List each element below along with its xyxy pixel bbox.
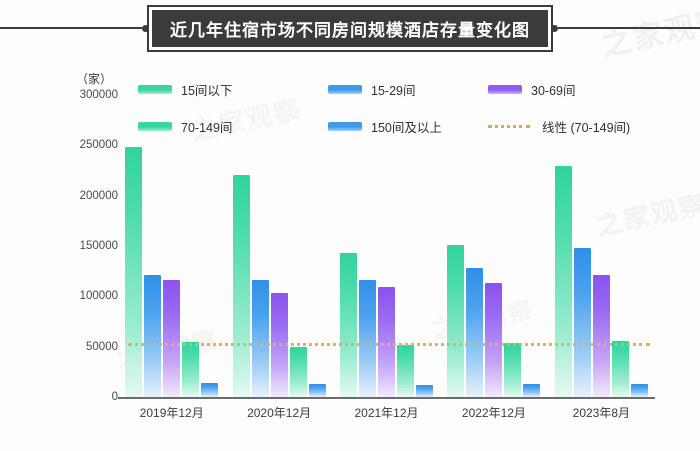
legend-color-swatch-icon xyxy=(138,122,172,131)
bar-group xyxy=(118,147,225,397)
bar-0-0[interactable] xyxy=(125,147,142,397)
x-axis-tick-label: 2019年12月 xyxy=(118,404,225,421)
bar-0-1[interactable] xyxy=(233,175,250,397)
legend-item-1[interactable]: 15-29间 xyxy=(328,80,488,99)
legend-color-swatch-icon xyxy=(488,85,522,94)
y-axis-tick-label: 150000 xyxy=(80,240,118,252)
bar-groups xyxy=(118,147,655,397)
legend-color-swatch-icon xyxy=(328,85,362,94)
legend-label: 150间及以上 xyxy=(371,117,442,136)
bar-3-4[interactable] xyxy=(612,341,629,397)
y-axis-unit-label: （家） xyxy=(76,70,112,87)
bar-2-4[interactable] xyxy=(593,275,610,397)
bar-2-3[interactable] xyxy=(485,283,502,397)
bar-1-0[interactable] xyxy=(144,275,161,397)
legend-label: 30-69间 xyxy=(531,80,575,99)
bar-3-3[interactable] xyxy=(504,343,521,397)
bar-1-1[interactable] xyxy=(252,280,269,397)
y-axis-tick-label: 250000 xyxy=(80,139,118,151)
bar-1-4[interactable] xyxy=(574,248,591,397)
title-bar: 近几年住宿市场不同房间规模酒店存量变化图 xyxy=(0,10,700,46)
x-axis-line xyxy=(118,397,655,399)
bar-0-4[interactable] xyxy=(555,166,572,397)
bar-2-2[interactable] xyxy=(378,287,395,397)
chart-plot-area: 300000250000200000150000100000500000 201… xyxy=(0,0,700,451)
x-axis-labels: 2019年12月2020年12月2021年12月2022年12月2023年8月 xyxy=(118,404,655,421)
legend-item-2[interactable]: 30-69间 xyxy=(488,80,648,99)
bar-4-3[interactable] xyxy=(523,384,540,398)
x-axis-tick-label: 2020年12月 xyxy=(225,404,332,421)
bar-3-1[interactable] xyxy=(290,347,307,397)
bar-3-0[interactable] xyxy=(182,342,199,397)
bar-group xyxy=(333,147,440,397)
watermark: 之家观察 xyxy=(592,184,700,243)
y-axis-tick-label: 300000 xyxy=(80,89,118,101)
watermark: 之家观察 xyxy=(427,290,536,346)
bar-4-4[interactable] xyxy=(631,384,648,397)
bar-4-2[interactable] xyxy=(416,385,433,397)
legend-color-swatch-icon xyxy=(328,122,362,131)
bar-group xyxy=(548,147,655,397)
bar-0-2[interactable] xyxy=(340,253,357,397)
legend-label: 15间以下 xyxy=(181,80,232,99)
y-axis-tick-label: 200000 xyxy=(80,190,118,202)
title-rule-right xyxy=(558,27,700,29)
x-axis-tick-label: 2022年12月 xyxy=(440,404,547,421)
bar-3-2[interactable] xyxy=(397,345,414,397)
bar-group xyxy=(440,147,547,397)
legend-label: 70-149间 xyxy=(181,117,232,136)
y-axis-tick-label: 100000 xyxy=(80,290,118,302)
bar-4-0[interactable] xyxy=(201,383,218,397)
title-dot-right xyxy=(551,25,558,32)
legend-color-swatch-icon xyxy=(138,85,172,94)
x-axis-tick-label: 2021年12月 xyxy=(333,404,440,421)
watermark: 之家观察 xyxy=(112,320,221,376)
title-rule-left xyxy=(0,27,142,29)
legend-item-4[interactable]: 150间及以上 xyxy=(328,117,488,136)
legend-item-3[interactable]: 70-149间 xyxy=(138,117,328,136)
x-axis-tick-label: 2023年8月 xyxy=(548,404,655,421)
trendline-70-149 xyxy=(128,343,650,346)
legend-line-swatch-icon xyxy=(488,125,530,128)
legend-label: 15-29间 xyxy=(371,80,415,99)
y-axis-tick-label: 50000 xyxy=(86,341,118,353)
legend-label: 线性 (70-149间) xyxy=(542,117,630,136)
title-dot-left xyxy=(142,25,149,32)
chart-legend: 15间以下15-29间30-69间70-149间150间及以上线性 (70-14… xyxy=(138,80,608,136)
bar-4-1[interactable] xyxy=(309,384,326,397)
legend-item-5[interactable]: 线性 (70-149间) xyxy=(488,117,648,136)
bar-2-1[interactable] xyxy=(271,293,288,397)
page-title: 近几年住宿市场不同房间规模酒店存量变化图 xyxy=(149,7,551,50)
bar-1-2[interactable] xyxy=(359,280,376,397)
bar-2-0[interactable] xyxy=(163,280,180,397)
legend-item-0[interactable]: 15间以下 xyxy=(138,80,328,99)
y-axis: 300000250000200000150000100000500000 xyxy=(55,95,118,405)
bar-0-3[interactable] xyxy=(447,245,464,397)
y-axis-tick-label: 0 xyxy=(112,391,118,403)
bar-group xyxy=(225,147,332,397)
bar-1-3[interactable] xyxy=(466,268,483,397)
